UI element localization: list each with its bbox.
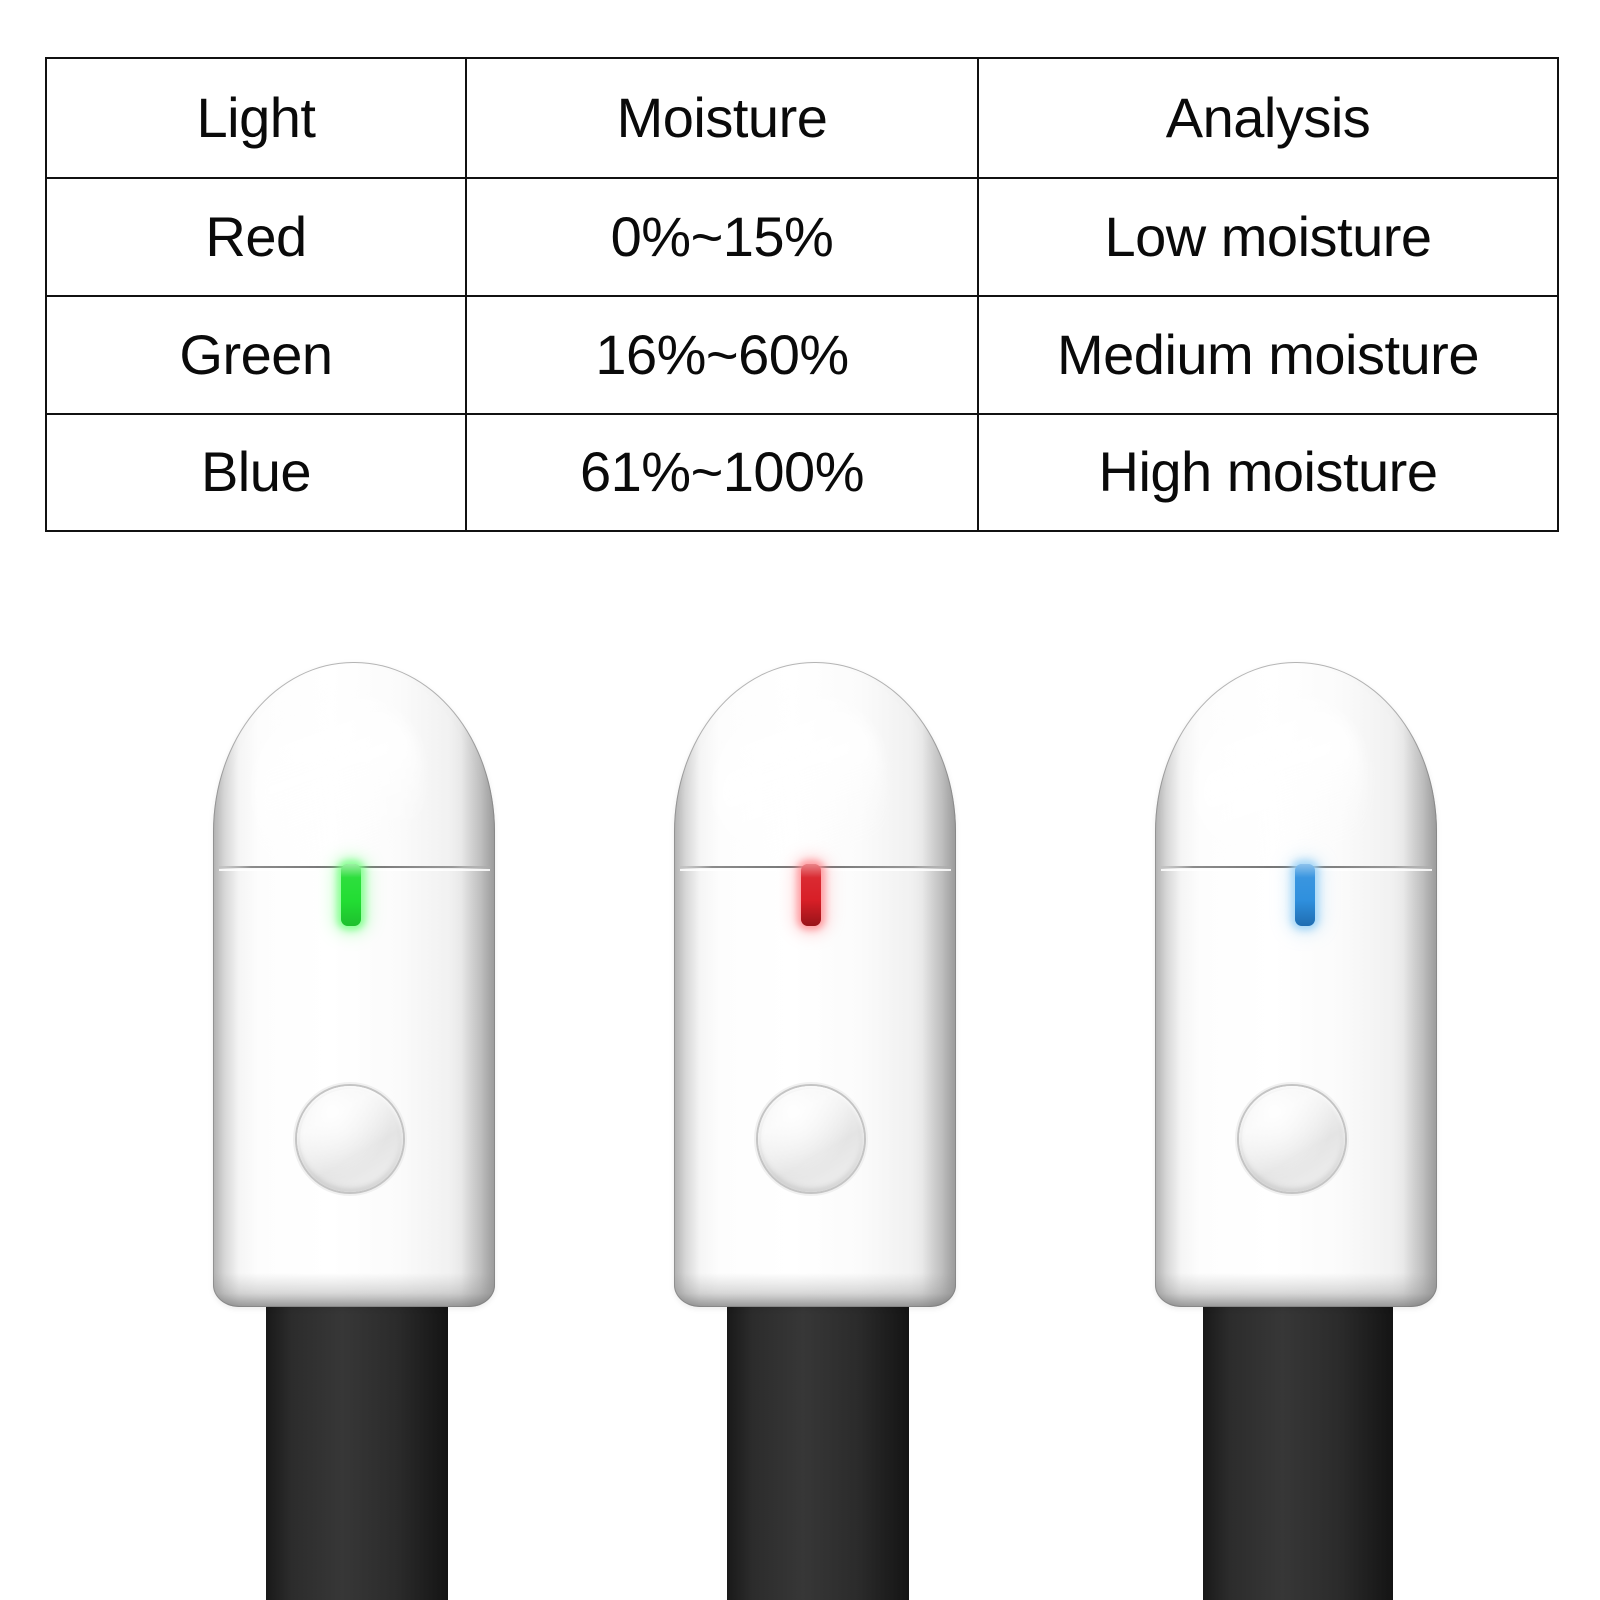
power-button-blue[interactable] xyxy=(1239,1086,1345,1192)
device-shell-blue xyxy=(1155,662,1437,1307)
soil-moisture-meter-blue[interactable] xyxy=(0,0,1600,1600)
led-indicator-blue xyxy=(1295,864,1315,926)
page-root: Light Moisture Analysis Red 0%~15% Low m… xyxy=(0,0,1600,1600)
probe-blade-blue xyxy=(1203,1270,1393,1600)
